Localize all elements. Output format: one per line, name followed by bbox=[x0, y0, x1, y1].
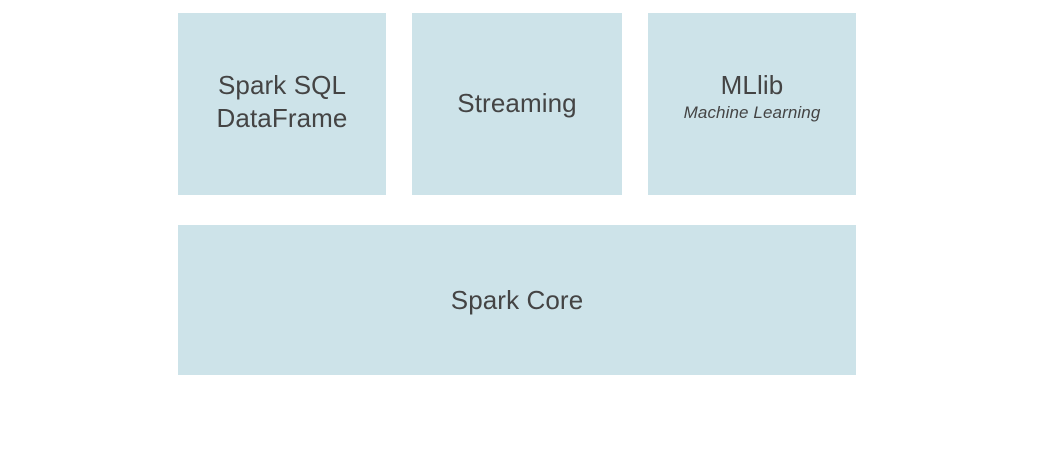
block-title-streaming: Streaming bbox=[457, 87, 576, 120]
diagram-block-mllib[interactable]: MLlib Machine Learning bbox=[648, 13, 856, 195]
block-subtitle-mllib: Machine Learning bbox=[684, 102, 821, 124]
block-title-spark-core: Spark Core bbox=[451, 284, 584, 317]
diagram-block-streaming[interactable]: Streaming bbox=[412, 13, 622, 195]
block-text-stack: Spark Core bbox=[451, 284, 584, 317]
block-text-stack: Streaming bbox=[457, 87, 576, 120]
diagram-block-spark-sql[interactable]: Spark SQL DataFrame bbox=[178, 13, 386, 195]
diagram-block-spark-core[interactable]: Spark Core bbox=[178, 225, 856, 375]
block-title-mllib: MLlib bbox=[684, 69, 821, 102]
block-text-stack: MLlib Machine Learning bbox=[684, 69, 821, 124]
diagram-canvas: Spark SQL DataFrame Streaming MLlib Mach… bbox=[0, 0, 1053, 457]
block-text-stack: Spark SQL DataFrame bbox=[217, 69, 348, 135]
block-title-spark-sql: Spark SQL DataFrame bbox=[217, 69, 348, 135]
